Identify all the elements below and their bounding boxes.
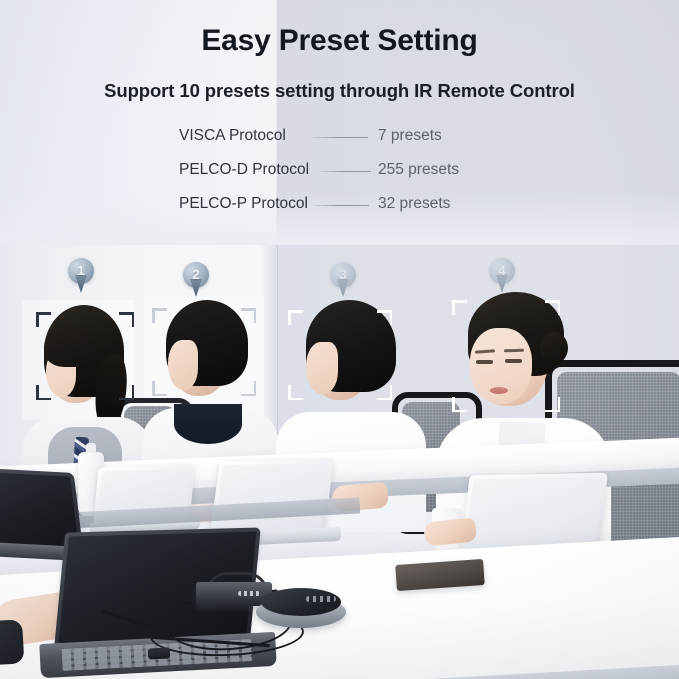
preset-marker-label: 2 xyxy=(183,262,209,287)
preset-marker-4[interactable]: 4 xyxy=(489,258,515,294)
protocol-name: VISCA Protocol xyxy=(179,126,286,146)
conference-speakerphone xyxy=(256,588,346,630)
face-tracking-bracket-1 xyxy=(36,312,134,400)
protocol-preset-count: 7 presets xyxy=(378,126,442,146)
laptop-lid xyxy=(210,459,334,536)
protocol-list: VISCA Protocol 7 presets PELCO-D Protoco… xyxy=(0,126,679,228)
protocol-connector-line xyxy=(319,171,371,172)
page-title: Easy Preset Setting xyxy=(0,24,679,58)
face-tracking-bracket-3 xyxy=(288,310,392,400)
protocol-row: PELCO-D Protocol 255 presets xyxy=(0,160,679,194)
protocol-connector-line xyxy=(312,137,368,138)
speakerphone-buttons xyxy=(306,596,336,602)
laptop-silver-1 xyxy=(90,466,195,538)
preset-marker-label: 1 xyxy=(68,258,94,283)
preset-marker-2[interactable]: 2 xyxy=(183,262,209,298)
protocol-name: PELCO-D Protocol xyxy=(179,160,309,180)
protocol-row: VISCA Protocol 7 presets xyxy=(0,126,679,160)
protocol-preset-count: 255 presets xyxy=(378,160,459,180)
laptop-screen xyxy=(214,463,329,532)
feature-header: Easy Preset Setting Support 10 presets s… xyxy=(0,0,679,245)
protocol-name: PELCO-P Protocol xyxy=(179,194,308,214)
speakerphone-top xyxy=(261,588,341,616)
protocol-row: PELCO-P Protocol 32 presets xyxy=(0,194,679,228)
page-subtitle: Support 10 presets setting through IR Re… xyxy=(0,80,679,102)
protocol-preset-count: 32 presets xyxy=(378,194,450,214)
cable-dongle xyxy=(148,647,171,659)
face-tracking-bracket-2 xyxy=(152,308,256,396)
preset-marker-3[interactable]: 3 xyxy=(330,262,356,298)
preset-marker-label: 4 xyxy=(489,258,515,283)
product-feature-banner: 1 2 3 4 Easy Preset Setting Support 10 p… xyxy=(0,0,679,679)
preset-marker-label: 3 xyxy=(330,262,356,287)
protocol-connector-line xyxy=(313,205,369,206)
face-tracking-bracket-4 xyxy=(452,300,560,412)
polo-collar xyxy=(174,404,242,444)
preset-marker-1[interactable]: 1 xyxy=(68,258,94,294)
